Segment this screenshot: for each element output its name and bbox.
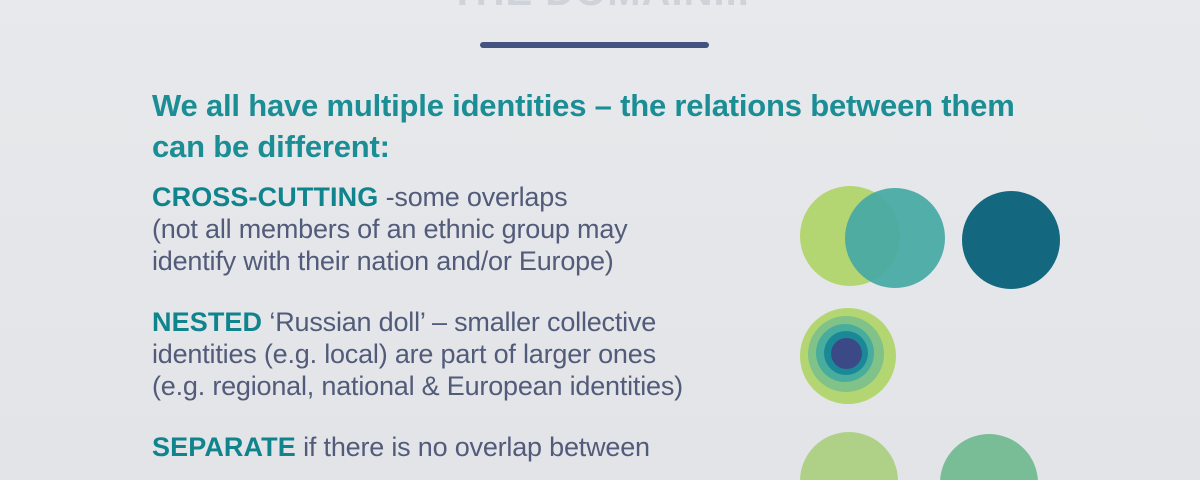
block-cross-cutting-line-3: identify with their nation and/or Europe…: [152, 246, 792, 278]
figure-nested-circles: [800, 308, 1100, 404]
navy-core-icon: [831, 338, 862, 369]
light-green-circle-icon: [800, 432, 898, 480]
lead-heading: We all have multiple identities – the re…: [152, 86, 1032, 168]
block-nested-first-line: NESTED ‘Russian doll’ – smaller collecti…: [152, 307, 792, 339]
block-cross-cutting-keyword: CROSS-CUTTING: [152, 182, 378, 212]
figure-cross-cutting-circles: [800, 186, 1100, 291]
block-cross-cutting: CROSS-CUTTING -some overlaps (not all me…: [152, 182, 792, 278]
green-circle-icon: [940, 434, 1038, 480]
title-divider: [480, 42, 709, 48]
figure-separate-circles: [800, 432, 1100, 480]
slide-canvas: THE DOMAIN... We all have multiple ident…: [0, 0, 1200, 480]
block-nested-lead-text: ‘Russian doll’ – smaller collective: [262, 307, 656, 337]
block-cross-cutting-first-line: CROSS-CUTTING -some overlaps: [152, 182, 792, 214]
block-cross-cutting-line-2: (not all members of an ethnic group may: [152, 214, 792, 246]
block-nested-line-3: (e.g. regional, national & European iden…: [152, 371, 792, 403]
block-nested-line-2: identities (e.g. local) are part of larg…: [152, 339, 792, 371]
block-nested: NESTED ‘Russian doll’ – smaller collecti…: [152, 307, 792, 403]
dark-teal-circle-icon: [962, 191, 1060, 289]
block-cross-cutting-lead-text: -some overlaps: [378, 182, 567, 212]
block-separate-first-line: SEPARATE if there is no overlap between: [152, 432, 792, 464]
slide-title: THE DOMAIN...: [0, 0, 1200, 14]
block-separate-keyword: SEPARATE: [152, 432, 296, 462]
block-nested-keyword: NESTED: [152, 307, 262, 337]
teal-circle-icon: [845, 188, 945, 288]
lead-heading-line-1: We all have multiple identities – the re…: [152, 88, 933, 123]
block-separate-lead-text: if there is no overlap between: [296, 432, 650, 462]
block-separate: SEPARATE if there is no overlap between: [152, 432, 792, 464]
